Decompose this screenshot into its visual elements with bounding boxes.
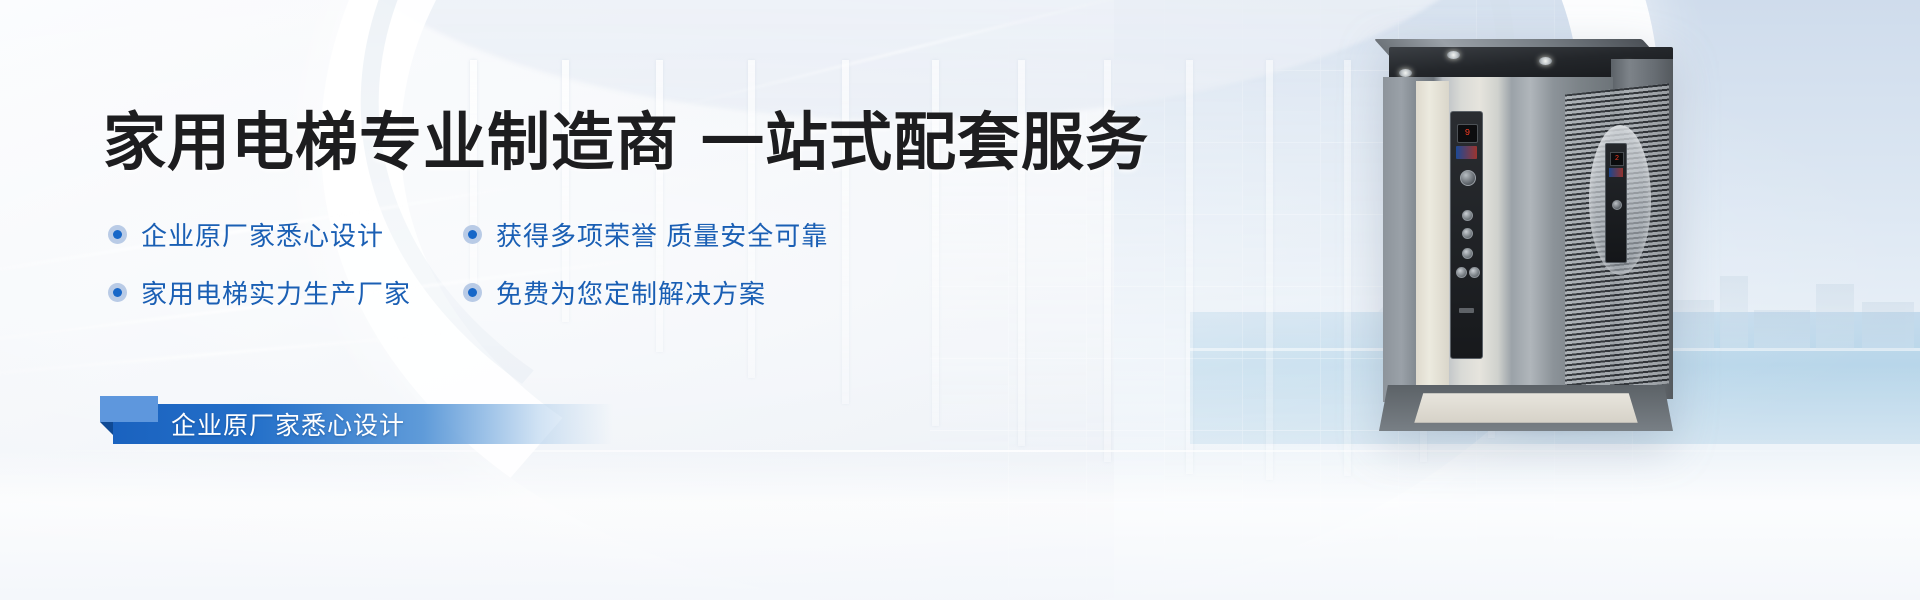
- feature-item: 企业原厂家悉心设计: [108, 216, 463, 253]
- bullet-dot-icon: [463, 225, 482, 244]
- floor-display-value: 9: [1465, 129, 1470, 138]
- ceiling-spotlight-icon: [1539, 57, 1552, 65]
- feature-label: 免费为您定制解决方案: [496, 274, 766, 311]
- ceiling-spotlight-icon: [1447, 51, 1460, 59]
- feature-list: 企业原厂家悉心设计 获得多项荣誉 质量安全可靠 家用电梯实力生产厂家 免费为您定…: [108, 205, 968, 321]
- highlight-ribbon: 企业原厂家悉心设计: [113, 404, 613, 444]
- headline-part-1: 家用电梯专业制造商: [103, 108, 679, 178]
- panel-brand-tag: [1459, 308, 1474, 313]
- floor-display-secondary: 2: [1610, 152, 1624, 166]
- bullet-dot-icon: [108, 283, 127, 302]
- elevator-control-panel-reflection: 2: [1605, 143, 1627, 263]
- elevator-cream-panel: [1416, 81, 1449, 393]
- feature-row: 家用电梯实力生产厂家 免费为您定制解决方案: [108, 263, 968, 321]
- elevator-control-panel: 9: [1450, 111, 1483, 359]
- panel-floor-button: [1462, 228, 1473, 239]
- feature-label: 家用电梯实力生产厂家: [141, 274, 411, 311]
- hero-banner: 9 2 家用电梯专业制造商一站式配套服务: [0, 0, 1920, 600]
- feature-item: 免费为您定制解决方案: [463, 274, 766, 311]
- panel-brand-logo-reflection: [1609, 168, 1623, 177]
- panel-main-button: [1460, 170, 1476, 186]
- bullet-dot-icon: [108, 225, 127, 244]
- ribbon-notch-icon: [100, 422, 113, 435]
- panel-door-close-button: [1469, 267, 1480, 278]
- panel-main-button-reflection: [1612, 200, 1622, 210]
- elevator-floor-tile: [1414, 393, 1637, 422]
- headline-part-2: 一站式配套服务: [701, 108, 1149, 178]
- elevator-floor: [1379, 385, 1673, 431]
- floor-display-secondary-value: 2: [1615, 156, 1619, 163]
- floor-display: 9: [1457, 124, 1478, 143]
- feature-label: 获得多项荣誉 质量安全可靠: [496, 216, 828, 253]
- page-title: 家用电梯专业制造商一站式配套服务: [103, 112, 1149, 175]
- feature-label: 企业原厂家悉心设计: [141, 216, 384, 253]
- banner-content: 家用电梯专业制造商一站式配套服务 企业原厂家悉心设计 获得多项荣誉 质量安全可靠…: [0, 0, 1100, 600]
- panel-door-open-button: [1456, 267, 1467, 278]
- ribbon-tab-icon: [100, 396, 158, 422]
- feature-item: 家用电梯实力生产厂家: [108, 274, 463, 311]
- panel-floor-button: [1462, 248, 1473, 259]
- ceiling-spotlight-icon: [1399, 69, 1412, 77]
- elevator-cabin-image: 9 2: [1383, 47, 1673, 417]
- feature-row: 企业原厂家悉心设计 获得多项荣誉 质量安全可靠: [108, 205, 968, 263]
- bullet-dot-icon: [463, 283, 482, 302]
- panel-floor-button: [1462, 210, 1473, 221]
- feature-item: 获得多项荣誉 质量安全可靠: [463, 216, 828, 253]
- panel-brand-logo: [1456, 146, 1477, 159]
- ribbon-label: 企业原厂家悉心设计: [171, 404, 405, 444]
